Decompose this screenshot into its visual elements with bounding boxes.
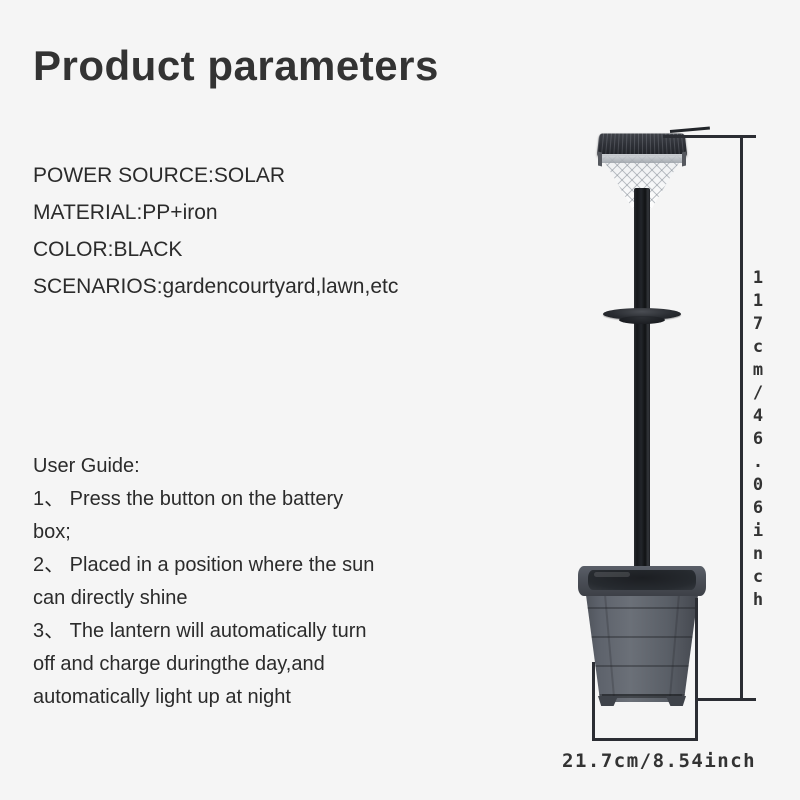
planter-panel-lines xyxy=(584,580,700,702)
diffuser-rim-left xyxy=(598,152,602,167)
product-image: 117cm/46.06inch 21.7cm/8.54inch xyxy=(520,100,800,800)
diffuser-collar xyxy=(600,154,684,163)
planter-foot-left xyxy=(598,696,618,706)
height-dimension-label: 117cm/46.06inch xyxy=(748,268,768,613)
height-dimension-line xyxy=(740,135,743,701)
planter-foot-right xyxy=(666,696,686,706)
user-guide-heading: User Guide: xyxy=(33,450,423,483)
spec-color: COLOR:BLACK xyxy=(33,231,503,268)
page-title: Product parameters xyxy=(33,42,439,90)
spec-material: MATERIAL:PP+iron xyxy=(33,194,503,231)
spec-scenarios: SCENARIOS:gardencourtyard,lawn,etc xyxy=(33,268,503,305)
width-dimension-label: 21.7cm/8.54inch xyxy=(562,750,756,772)
user-guide-block: User Guide: 1、 Press the button on the b… xyxy=(33,450,423,714)
planter-inner-highlight xyxy=(594,572,630,577)
diffuser-rim-right xyxy=(682,152,686,167)
user-guide-line-3b: off and charge duringthe day,and xyxy=(33,648,423,681)
mid-pole-tray-underside xyxy=(619,316,665,324)
user-guide-line-2b: can directly shine xyxy=(33,582,423,615)
planter-box xyxy=(578,562,706,710)
user-guide-line-3a: 3、 The lantern will automatically turn xyxy=(33,615,423,648)
user-guide-line-3c: automatically light up at night xyxy=(33,681,423,714)
width-dimension-witness-right xyxy=(695,598,698,741)
width-dimension-line xyxy=(592,738,698,741)
height-dimension-tick-bottom xyxy=(696,698,756,701)
user-guide-line-1b: box; xyxy=(33,516,423,549)
user-guide-line-1a: 1、 Press the button on the battery xyxy=(33,483,423,516)
width-dimension-witness-left xyxy=(592,662,595,741)
spec-power-source: POWER SOURCE:SOLAR xyxy=(33,157,503,194)
spec-list: POWER SOURCE:SOLAR MATERIAL:PP+iron COLO… xyxy=(33,157,503,305)
user-guide-line-2a: 2、 Placed in a position where the sun xyxy=(33,549,423,582)
solar-panel-arm-icon xyxy=(670,127,710,133)
